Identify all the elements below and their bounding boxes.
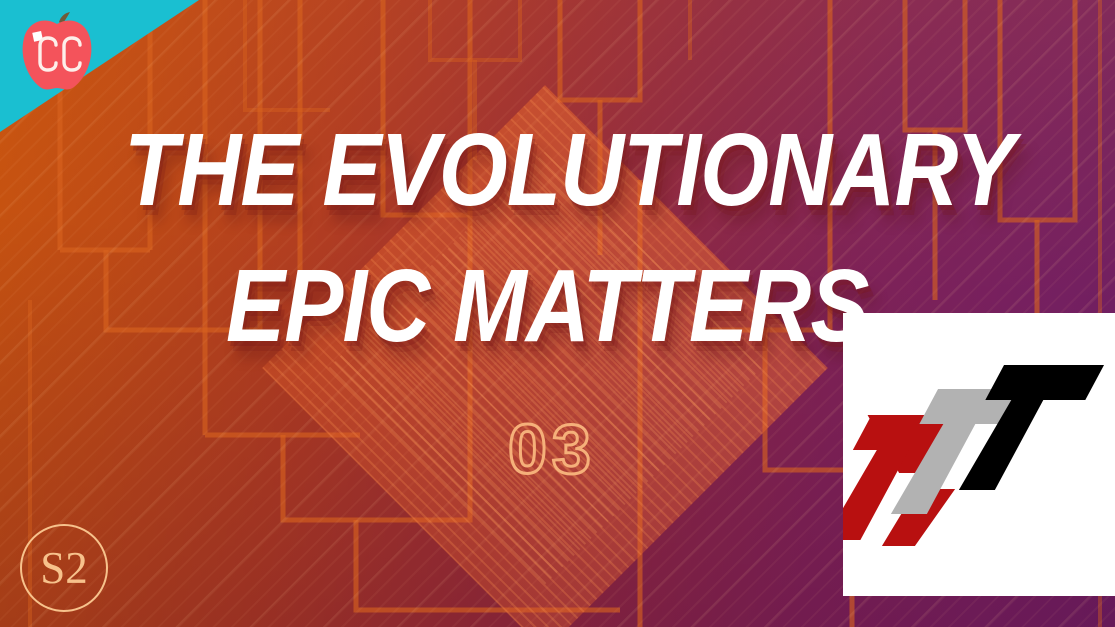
- season-badge: S2: [20, 524, 108, 612]
- season-badge-label: S2: [40, 546, 88, 591]
- ttt-logo-letter-black: [959, 365, 1104, 490]
- crash-course-apple-logo: [14, 12, 100, 94]
- ttt-logo-panel: [843, 313, 1115, 596]
- ttt-logo: [843, 313, 1115, 596]
- episode-number: 03: [508, 414, 596, 484]
- video-thumbnail: THE EVOLUTIONARY EPIC MATTERS 03 S2: [0, 0, 1115, 627]
